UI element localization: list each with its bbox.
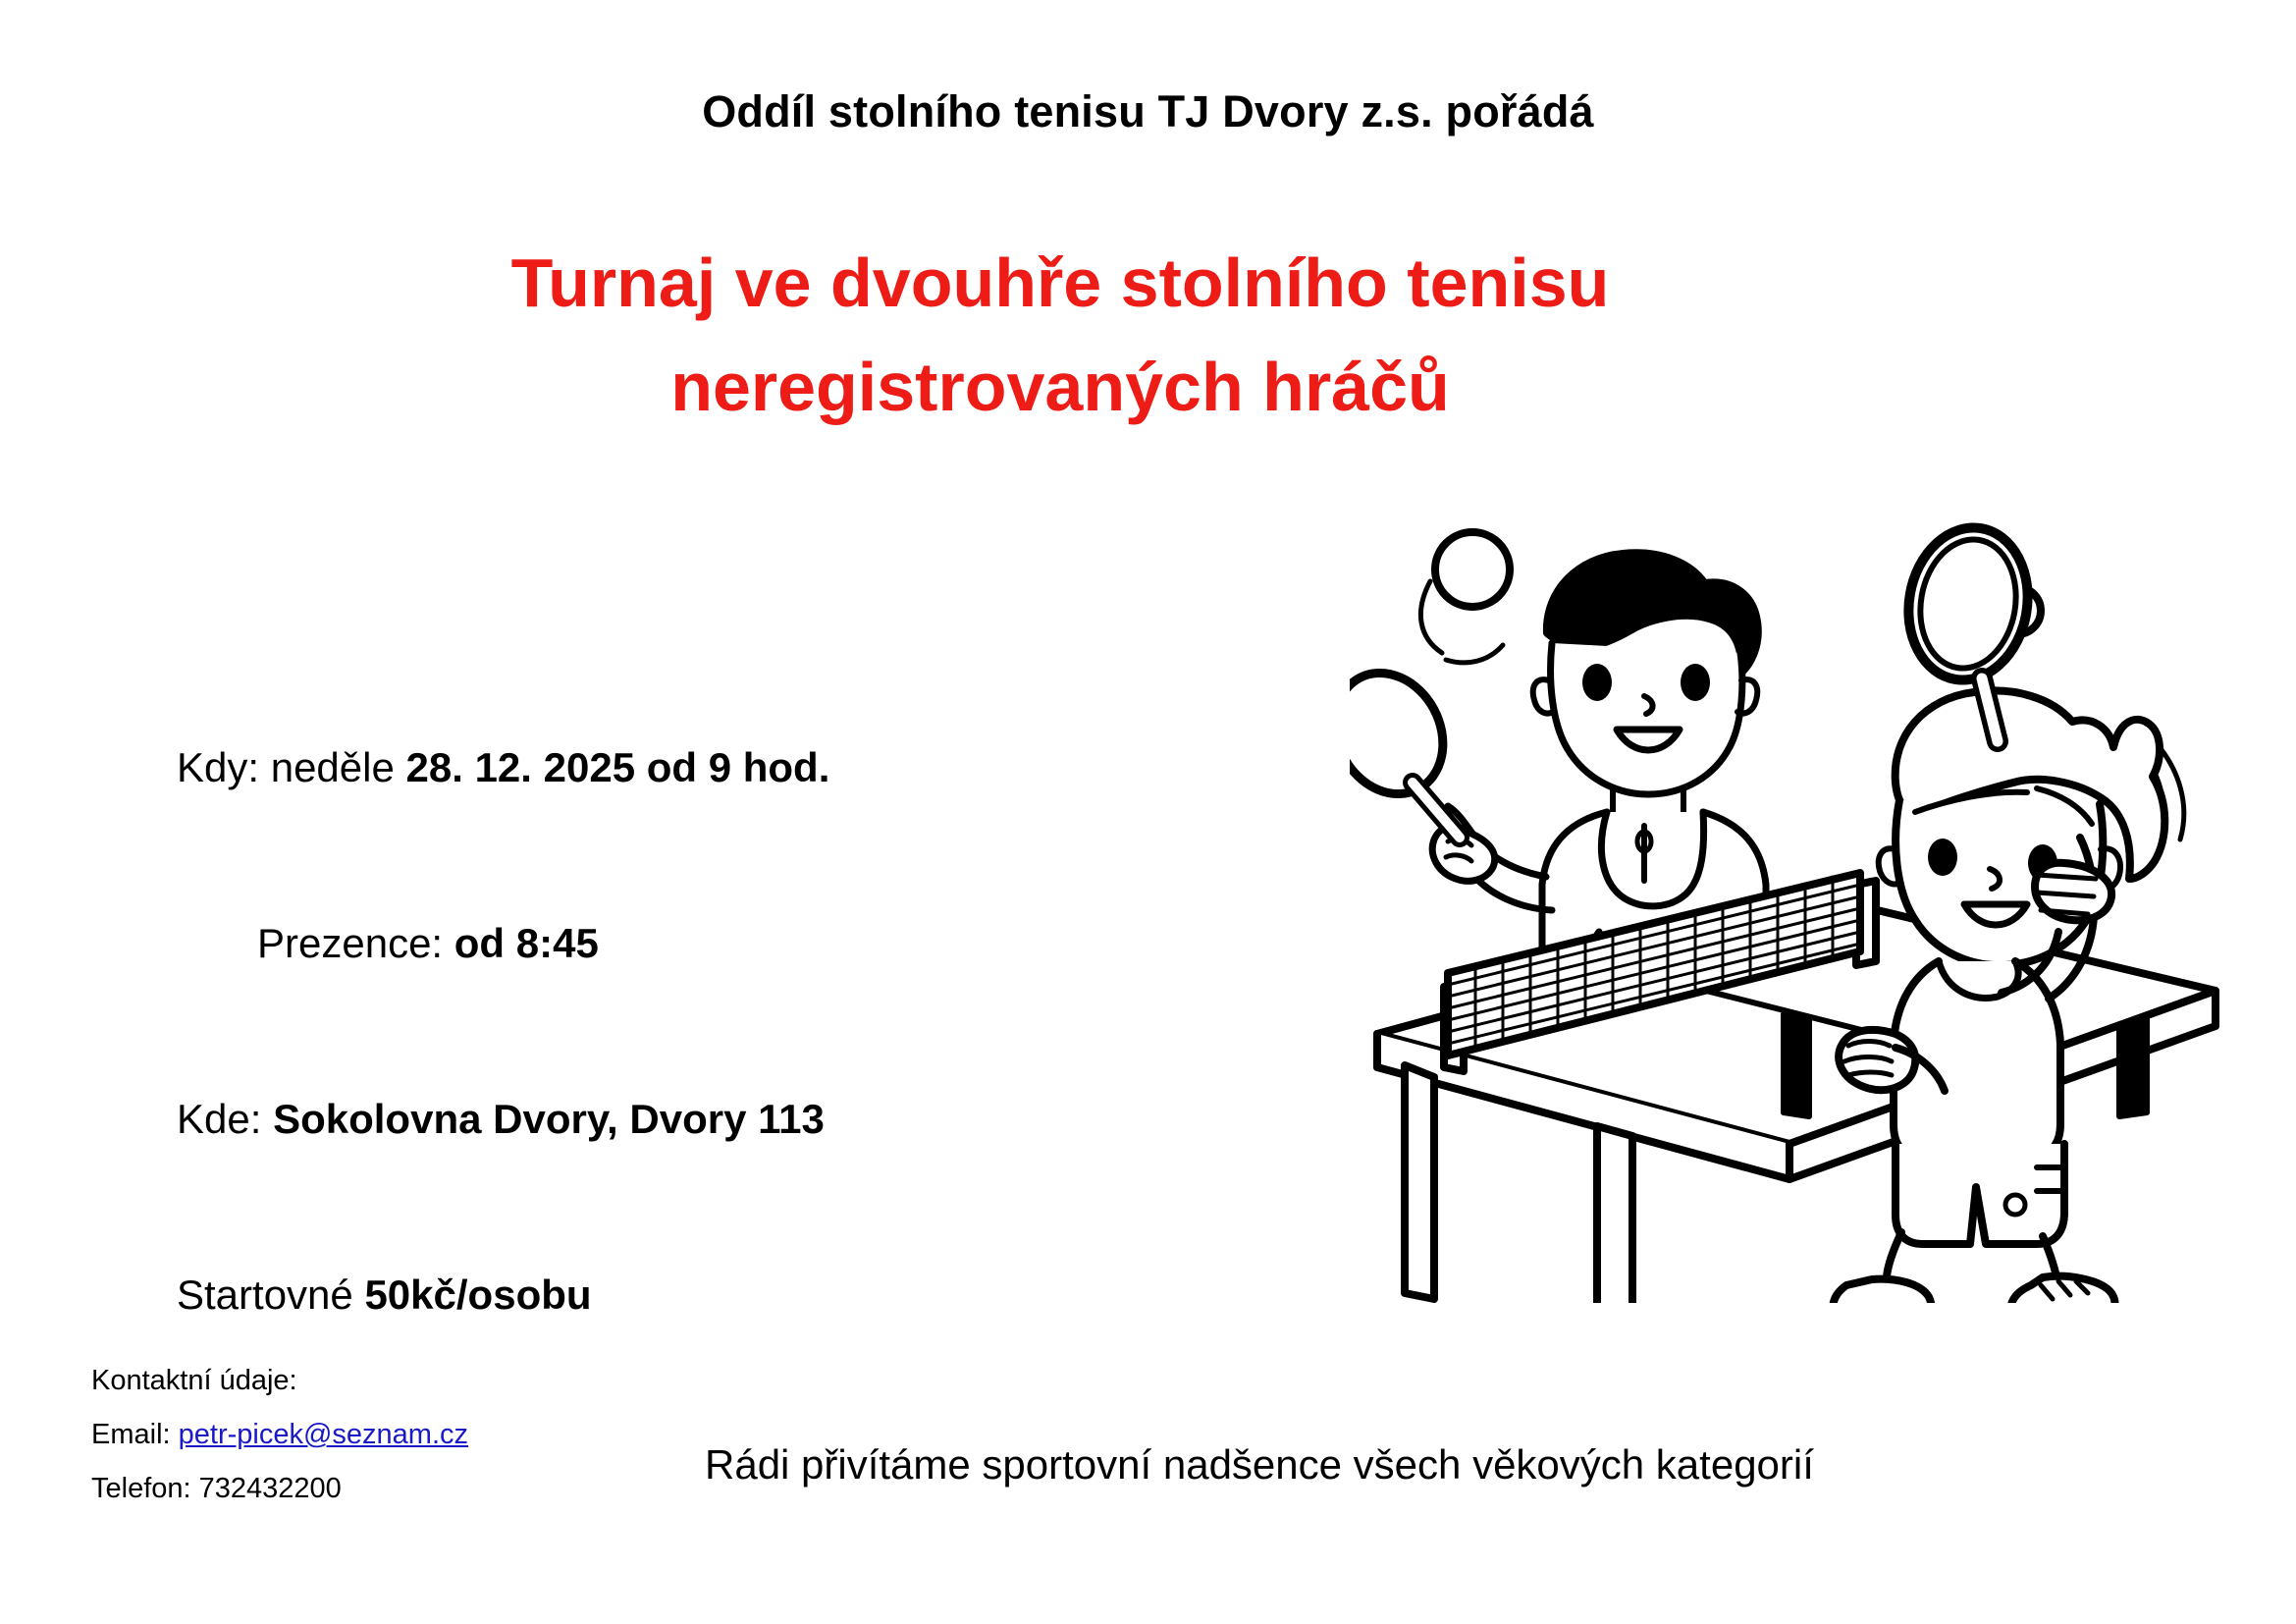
right-boy-shoe-left-icon xyxy=(1833,1279,1931,1303)
contact-email-link[interactable]: petr-picek@seznam.cz xyxy=(179,1419,468,1450)
page-title-line-2: neregistrovaných hráčů xyxy=(167,335,1953,439)
contact-phone-label: Telefon: xyxy=(91,1473,199,1504)
detail-when-label: Kdy: neděle xyxy=(177,744,406,790)
left-boy-face-icon xyxy=(1551,643,1742,794)
detail-fee-label: Startovné xyxy=(177,1272,364,1318)
detail-presence-value: od 8:45 xyxy=(454,920,599,966)
ball-upper-left-icon xyxy=(1435,532,1510,607)
detail-where-value: Sokolovna Dvory, Dvory 113 xyxy=(273,1096,825,1142)
table-tennis-line-art-icon xyxy=(1350,488,2243,1303)
detail-where-label: Kde: xyxy=(177,1096,273,1142)
contact-heading: Kontaktní údaje: xyxy=(91,1367,468,1395)
detail-presence-label: Prezence: xyxy=(257,920,454,966)
detail-where: Kde: Sokolovna Dvory, Dvory 113 xyxy=(177,1090,1315,1149)
contact-phone-row: Telefon: 732432200 xyxy=(91,1475,468,1503)
page-title: Turnaj ve dvouhře stolního tenisu neregi… xyxy=(167,231,1953,440)
contact-block: Kontaktní údaje: Email: petr-picek@sezna… xyxy=(91,1367,468,1503)
contact-email-row: Email: petr-picek@seznam.cz xyxy=(91,1421,468,1449)
table-tennis-illustration xyxy=(1350,488,2243,1303)
left-boy-eye-left-icon xyxy=(1582,664,1612,701)
detail-when: Kdy: neděle 28. 12. 2025 od 9 hod. xyxy=(177,738,1315,797)
table-leg-back-right-icon xyxy=(2119,1018,2147,1116)
left-boy-collar-icon xyxy=(1601,812,1703,906)
paddle-left-icon xyxy=(1350,654,1464,838)
contact-phone-value: 732432200 xyxy=(199,1473,342,1504)
welcome-message: Rádi přivítáme sportovní nadšence všech … xyxy=(705,1441,1814,1489)
table-leg-front-right-icon xyxy=(1597,1126,1632,1303)
detail-when-value: 28. 12. 2025 od 9 hod. xyxy=(406,744,830,790)
contact-email-label: Email: xyxy=(91,1419,179,1450)
left-boy-eye-right-icon xyxy=(1681,664,1710,701)
detail-presence: Prezence: od 8:45 xyxy=(177,914,1315,973)
page-title-line-1: Turnaj ve dvouhře stolního tenisu xyxy=(511,244,1610,321)
right-boy-eye-left-icon xyxy=(1928,839,1957,876)
poster-root: Oddíl stolního tenisu TJ Dvory z.s. pořá… xyxy=(0,0,2296,1624)
right-boy-leg-right-icon xyxy=(2043,1236,2058,1303)
detail-fee-value: 50kč/osobu xyxy=(364,1272,591,1318)
organizer-heading: Oddíl stolního tenisu TJ Dvory z.s. pořá… xyxy=(0,86,2296,137)
table-leg-front-left-icon xyxy=(1405,1065,1434,1299)
table-leg-back-left-icon xyxy=(1784,1014,1809,1116)
detail-refreshments: Drobné občerstvení bude zajištěno xyxy=(177,1613,1315,1624)
detail-fee: Startovné 50kč/osobu xyxy=(177,1266,1315,1325)
